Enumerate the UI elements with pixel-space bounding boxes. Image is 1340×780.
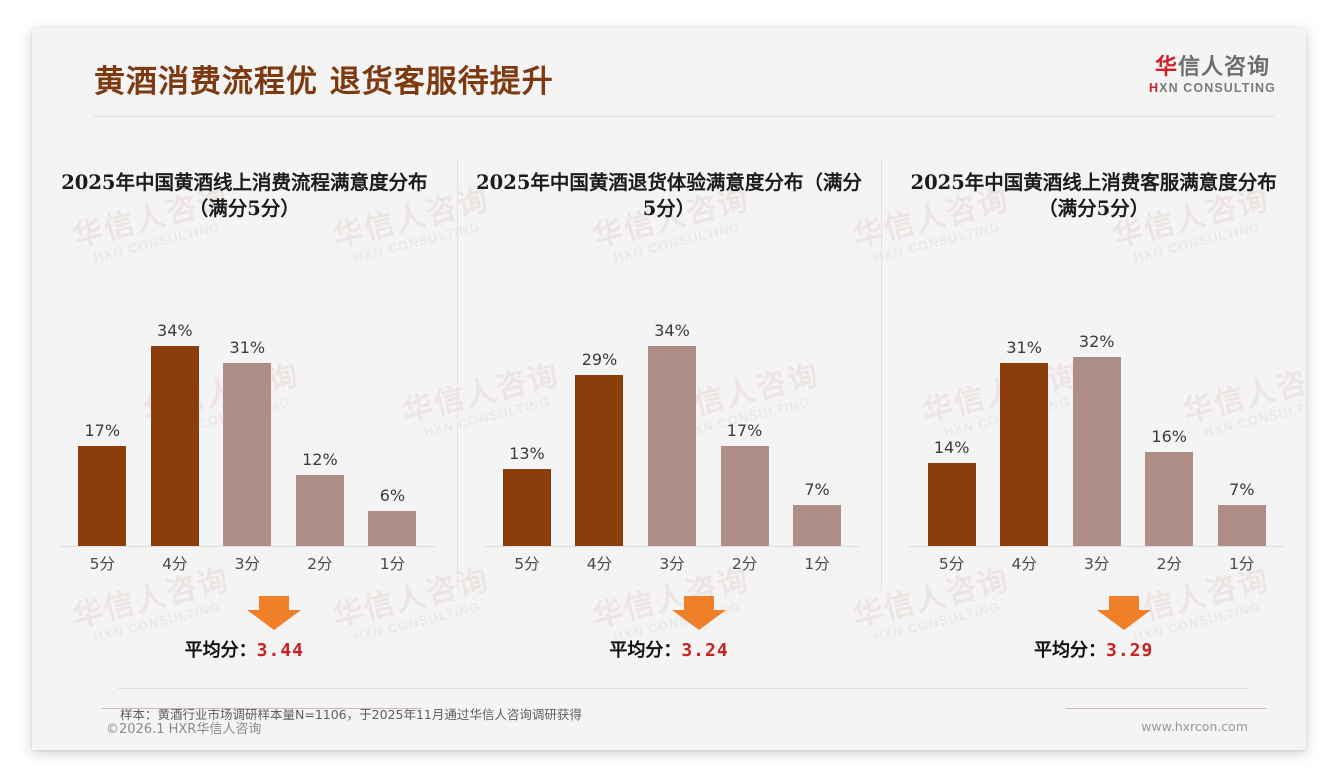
x-axis-labels: 5分4分3分2分1分 bbox=[491, 552, 854, 574]
chart-title: 2025年中国黄酒线上消费客服满意度分布（满分5分） bbox=[899, 170, 1288, 223]
logo-chinese-highlight: 华 bbox=[1155, 55, 1178, 80]
average-score: 平均分：3.44 bbox=[32, 636, 457, 662]
bar-slot[interactable]: 6% bbox=[356, 288, 429, 546]
bar-value-label: 17% bbox=[727, 421, 763, 440]
average-score-label: 平均分： bbox=[185, 640, 257, 661]
x-axis-tick-label: 1分 bbox=[781, 552, 854, 574]
bar-value-label: 16% bbox=[1151, 427, 1187, 446]
bar-slot[interactable]: 29% bbox=[563, 288, 636, 546]
arrow-stem bbox=[684, 596, 714, 610]
bar[interactable] bbox=[648, 346, 696, 546]
bar[interactable] bbox=[368, 511, 416, 546]
chart-plot-area: 13%29%34%17%7% bbox=[491, 288, 854, 546]
bar[interactable] bbox=[296, 475, 344, 546]
bar[interactable] bbox=[78, 446, 126, 546]
bar-value-label: 31% bbox=[1006, 338, 1042, 357]
bar-group: 13%29%34%17%7% bbox=[491, 288, 854, 546]
arrow-stem bbox=[259, 596, 289, 610]
bar-value-label: 13% bbox=[509, 444, 545, 463]
bar-group: 17%34%31%12%6% bbox=[66, 288, 429, 546]
bar-slot[interactable]: 32% bbox=[1060, 288, 1133, 546]
x-axis-tick-label: 4分 bbox=[139, 552, 212, 574]
bar-slot[interactable]: 17% bbox=[708, 288, 781, 546]
page-title: 黄酒消费流程优 退货客服待提升 bbox=[94, 56, 554, 101]
bar-value-label: 14% bbox=[934, 438, 970, 457]
bar-value-label: 7% bbox=[804, 480, 829, 499]
x-axis-line bbox=[909, 546, 1284, 547]
bar[interactable] bbox=[575, 375, 623, 546]
bar-group: 14%31%32%16%7% bbox=[915, 288, 1278, 546]
bar-value-label: 34% bbox=[654, 321, 690, 340]
bar-slot[interactable]: 12% bbox=[284, 288, 357, 546]
x-axis-tick-label: 2分 bbox=[284, 552, 357, 574]
arrow-container bbox=[881, 596, 1306, 630]
chart-panel-1: 2025年中国黄酒线上消费流程满意度分布（满分5分）17%34%31%12%6%… bbox=[32, 148, 457, 668]
x-axis-tick-label: 4分 bbox=[563, 552, 636, 574]
bar[interactable] bbox=[223, 363, 271, 546]
bar-slot[interactable]: 34% bbox=[636, 288, 709, 546]
chart-plot-area: 14%31%32%16%7% bbox=[915, 288, 1278, 546]
down-arrow-icon bbox=[1097, 596, 1151, 630]
charts-row: 2025年中国黄酒线上消费流程满意度分布（满分5分）17%34%31%12%6%… bbox=[32, 148, 1306, 668]
x-axis-tick-label: 2分 bbox=[708, 552, 781, 574]
x-axis-tick-label: 3分 bbox=[211, 552, 284, 574]
x-axis-tick-label: 1分 bbox=[356, 552, 429, 574]
bar-slot[interactable]: 16% bbox=[1133, 288, 1206, 546]
x-axis-tick-label: 5分 bbox=[66, 552, 139, 574]
bar[interactable] bbox=[1218, 505, 1266, 546]
bar[interactable] bbox=[1073, 357, 1121, 546]
x-axis-tick-label: 5分 bbox=[491, 552, 564, 574]
average-score-value: 3.24 bbox=[681, 640, 728, 661]
x-axis-labels: 5分4分3分2分1分 bbox=[66, 552, 429, 574]
average-score-label: 平均分： bbox=[609, 640, 681, 661]
bar-slot[interactable]: 7% bbox=[781, 288, 854, 546]
slide-footer: ©2026.1 HXR华信人咨询 www.hxrcon.com bbox=[32, 708, 1306, 750]
chart-panel-2: 2025年中国黄酒退货体验满意度分布（满分5分）13%29%34%17%7%5分… bbox=[457, 148, 882, 668]
brand-logo: 华信人咨询 HXN CONSULTING bbox=[1149, 56, 1276, 95]
bar-value-label: 7% bbox=[1229, 480, 1254, 499]
chart-title: 2025年中国黄酒线上消费流程满意度分布（满分5分） bbox=[50, 170, 439, 223]
x-axis-tick-label: 2分 bbox=[1133, 552, 1206, 574]
footer-divider-right bbox=[1066, 708, 1266, 709]
average-score-label: 平均分： bbox=[1034, 640, 1106, 661]
arrow-container bbox=[457, 596, 882, 630]
average-score: 平均分：3.24 bbox=[457, 636, 882, 662]
average-score-value: 3.44 bbox=[257, 640, 304, 661]
logo-english-highlight: H bbox=[1149, 81, 1159, 95]
x-axis-tick-label: 4分 bbox=[988, 552, 1061, 574]
logo-chinese: 华信人咨询 bbox=[1149, 56, 1276, 79]
arrow-head bbox=[672, 610, 726, 630]
bar[interactable] bbox=[503, 469, 551, 546]
bar-slot[interactable]: 17% bbox=[66, 288, 139, 546]
bar[interactable] bbox=[793, 505, 841, 546]
arrow-head bbox=[1097, 610, 1151, 630]
x-axis-tick-label: 3分 bbox=[636, 552, 709, 574]
bar-slot[interactable]: 14% bbox=[915, 288, 988, 546]
chart-title: 2025年中国黄酒退货体验满意度分布（满分5分） bbox=[475, 170, 864, 223]
bar-value-label: 6% bbox=[380, 486, 405, 505]
bar[interactable] bbox=[1145, 452, 1193, 546]
chart-plot-area: 17%34%31%12%6% bbox=[66, 288, 429, 546]
bar[interactable] bbox=[928, 463, 976, 546]
x-axis-tick-label: 5分 bbox=[915, 552, 988, 574]
bar-slot[interactable]: 34% bbox=[139, 288, 212, 546]
chart-panel-3: 2025年中国黄酒线上消费客服满意度分布（满分5分）14%31%32%16%7%… bbox=[881, 148, 1306, 668]
bar-value-label: 29% bbox=[582, 350, 618, 369]
bar-value-label: 31% bbox=[230, 338, 266, 357]
header-divider bbox=[94, 116, 1274, 117]
bar-value-label: 17% bbox=[84, 421, 120, 440]
arrow-container bbox=[32, 596, 457, 630]
bar-value-label: 32% bbox=[1079, 332, 1115, 351]
logo-english: HXN CONSULTING bbox=[1149, 82, 1276, 95]
logo-chinese-rest: 信人咨询 bbox=[1178, 55, 1270, 80]
bar-slot[interactable]: 13% bbox=[491, 288, 564, 546]
bar[interactable] bbox=[151, 346, 199, 546]
website-url[interactable]: www.hxrcon.com bbox=[1141, 719, 1248, 734]
footnote-divider bbox=[118, 688, 1248, 689]
slide-canvas: 华信人咨询HXN CONSULTING华信人咨询HXN CONSULTING华信… bbox=[32, 28, 1306, 750]
x-axis-tick-label: 3分 bbox=[1060, 552, 1133, 574]
average-score: 平均分：3.29 bbox=[881, 636, 1306, 662]
copyright-text: ©2026.1 HXR华信人咨询 bbox=[106, 718, 261, 737]
bar-slot[interactable]: 31% bbox=[988, 288, 1061, 546]
slide-header: 黄酒消费流程优 退货客服待提升 华信人咨询 HXN CONSULTING bbox=[32, 28, 1306, 120]
bar[interactable] bbox=[721, 446, 769, 546]
bar[interactable] bbox=[1000, 363, 1048, 546]
bar-slot[interactable]: 31% bbox=[211, 288, 284, 546]
x-axis-labels: 5分4分3分2分1分 bbox=[915, 552, 1278, 574]
arrow-head bbox=[247, 610, 301, 630]
x-axis-line bbox=[60, 546, 435, 547]
arrow-stem bbox=[1109, 596, 1139, 610]
footer-divider-left bbox=[102, 708, 422, 709]
average-score-value: 3.29 bbox=[1106, 640, 1153, 661]
down-arrow-icon bbox=[672, 596, 726, 630]
x-axis-tick-label: 1分 bbox=[1205, 552, 1278, 574]
bar-value-label: 12% bbox=[302, 450, 338, 469]
down-arrow-icon bbox=[247, 596, 301, 630]
bar-slot[interactable]: 7% bbox=[1205, 288, 1278, 546]
x-axis-line bbox=[485, 546, 860, 547]
bar-value-label: 34% bbox=[157, 321, 193, 340]
logo-english-rest: XN CONSULTING bbox=[1159, 81, 1276, 95]
